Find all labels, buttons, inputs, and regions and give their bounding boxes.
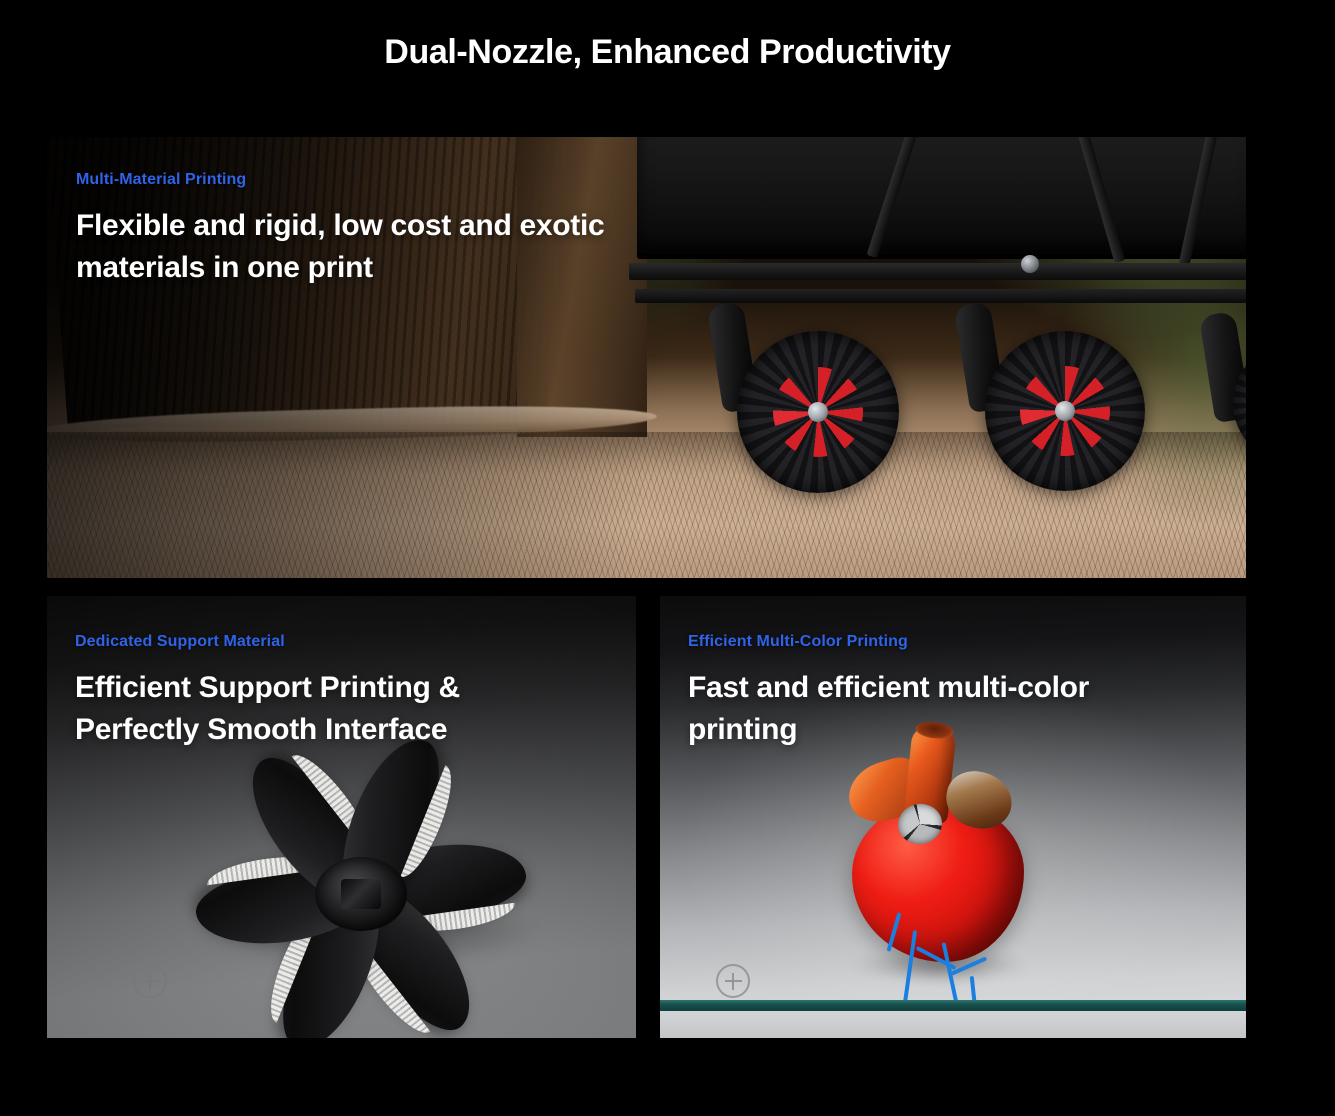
plus-circle-icon[interactable] <box>716 964 750 998</box>
wagon-graphic <box>607 137 1246 437</box>
wheel-axle-bolt <box>1055 401 1075 421</box>
card-text-block: Dedicated Support Material Efficient Sup… <box>75 631 575 751</box>
feature-card-multi-material[interactable]: Multi-Material Printing Flexible and rig… <box>47 137 1246 578</box>
card-headline: Fast and efficient multi-color printing <box>688 667 1198 751</box>
card-eyebrow: Dedicated Support Material <box>75 631 575 653</box>
wheel-axle-bolt <box>808 402 828 422</box>
feature-card-dedicated-support[interactable]: Dedicated Support Material Efficient Sup… <box>47 596 636 1038</box>
card-headline: Flexible and rigid, low cost and exotic … <box>76 205 616 289</box>
card-headline: Efficient Support Printing & Perfectly S… <box>75 667 575 751</box>
feature-section: Dual-Nozzle, Enhanced Productivity <box>0 0 1335 1116</box>
wagon-wheel <box>985 331 1145 491</box>
glass-shelf-surface <box>660 1011 1246 1038</box>
wagon-frame-bar <box>629 263 1246 280</box>
card-text-block: Efficient Multi-Color Printing Fast and … <box>688 631 1198 751</box>
card-eyebrow: Efficient Multi-Color Printing <box>688 631 1198 653</box>
propeller-graphic <box>151 761 571 1026</box>
wagon-frame-bar <box>635 289 1246 303</box>
heart-vein <box>887 912 902 952</box>
card-text-block: Multi-Material Printing Flexible and rig… <box>76 169 616 289</box>
wagon-fabric-body <box>637 137 1246 259</box>
wagon-joint-bolt <box>1021 255 1039 273</box>
wagon-wheel <box>737 331 899 493</box>
feature-card-multi-color[interactable]: Efficient Multi-Color Printing Fast and … <box>660 596 1246 1038</box>
heart-model-graphic <box>842 726 1032 962</box>
propeller-hub <box>315 857 407 931</box>
card-eyebrow: Multi-Material Printing <box>76 169 616 191</box>
page-title: Dual-Nozzle, Enhanced Productivity <box>0 28 1335 76</box>
plus-circle-icon[interactable] <box>133 964 167 998</box>
glass-shelf-edge <box>660 1000 1246 1011</box>
